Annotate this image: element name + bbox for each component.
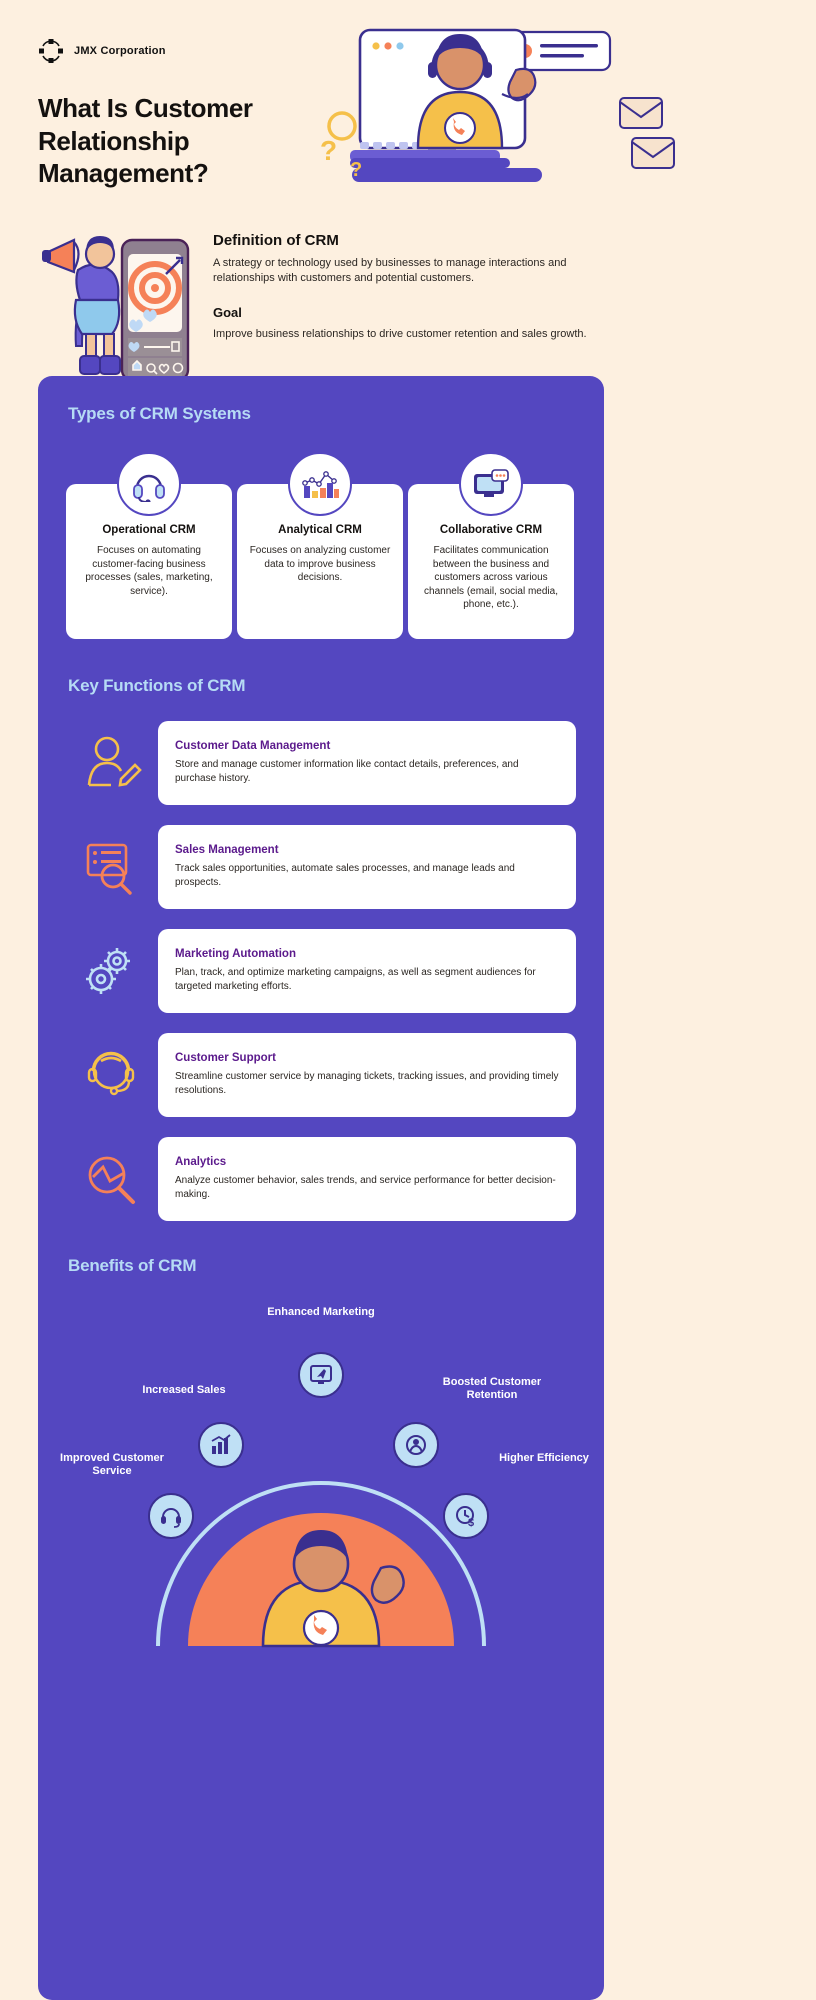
key-functions-list: Customer Data Management Store and manag…: [68, 716, 576, 1236]
analytics-magnifier-icon: [68, 1144, 158, 1214]
svg-text:?: ?: [350, 159, 362, 181]
function-title: Customer Data Management: [175, 740, 559, 752]
benefit-label: Boosted Customer Retention: [438, 1376, 546, 1403]
document-search-icon: [68, 832, 158, 902]
retention-users-icon[interactable]: [393, 1422, 439, 1468]
function-title: Analytics: [175, 1156, 559, 1168]
function-title: Customer Support: [175, 1052, 559, 1064]
function-body: Streamline customer service by managing …: [175, 1070, 559, 1098]
benefit-label: Improved Customer Service: [58, 1452, 166, 1479]
infographic-page: JMX Corporation What Is Customer Relatio…: [0, 0, 816, 2000]
function-body: Track sales opportunities, automate sale…: [175, 862, 559, 890]
crm-type-card[interactable]: Collaborative CRM Facilitates communicat…: [408, 484, 574, 639]
svg-text:$: $: [468, 1517, 474, 1528]
function-body: Store and manage customer information li…: [175, 758, 559, 786]
definition-illustration: [38, 218, 198, 383]
function-card: Marketing Automation Plan, track, and op…: [158, 929, 576, 1013]
page-title: What Is Customer Relationship Management…: [38, 92, 338, 190]
clock-money-icon[interactable]: $: [443, 1493, 489, 1539]
crm-type-body: Facilitates communication between the bu…: [419, 544, 563, 612]
definition-block: Definition of CRM A strategy or technolo…: [213, 232, 593, 343]
headset-support-icon: [68, 1040, 158, 1110]
dotted-circle-logo-icon: [38, 38, 64, 64]
function-card: Customer Data Management Store and manag…: [158, 721, 576, 805]
benefit-label: Increased Sales: [130, 1384, 238, 1397]
function-card: Customer Support Streamline customer ser…: [158, 1033, 576, 1117]
types-section-title: Types of CRM Systems: [68, 404, 251, 424]
benefit-label: Enhanced Marketing: [267, 1306, 375, 1319]
function-card: Analytics Analyze customer behavior, sal…: [158, 1137, 576, 1221]
benefit-label: Higher Efficiency: [490, 1452, 598, 1465]
crm-types-list: Operational CRM Focuses on automating cu…: [66, 484, 576, 639]
function-title: Sales Management: [175, 844, 559, 856]
crm-type-title: Operational CRM: [77, 524, 221, 536]
function-row[interactable]: Marketing Automation Plan, track, and op…: [68, 924, 576, 1018]
rocket-monitor-icon[interactable]: [298, 1352, 344, 1398]
benefits-diagram: Enhanced Marketing Increased Sales: [38, 1296, 604, 1996]
function-body: Analyze customer behavior, sales trends,…: [175, 1174, 559, 1202]
crm-type-card[interactable]: Analytical CRM Focuses on analyzing cust…: [237, 484, 403, 639]
definition-heading: Definition of CRM: [213, 232, 593, 249]
definition-body: A strategy or technology used by busines…: [213, 256, 593, 286]
function-row[interactable]: Sales Management Track sales opportuniti…: [68, 820, 576, 914]
goal-heading: Goal: [213, 305, 593, 320]
function-title: Marketing Automation: [175, 948, 559, 960]
monitor-chat-icon: [459, 452, 523, 516]
function-card: Sales Management Track sales opportuniti…: [158, 825, 576, 909]
headset-icon: [117, 452, 181, 516]
crm-type-title: Analytical CRM: [248, 524, 392, 536]
benefits-section-title: Benefits of CRM: [68, 1256, 196, 1276]
functions-section-title: Key Functions of CRM: [68, 676, 245, 696]
growth-chart-icon[interactable]: [198, 1422, 244, 1468]
function-row[interactable]: Analytics Analyze customer behavior, sal…: [68, 1132, 576, 1226]
brand-logo: JMX Corporation: [38, 38, 166, 64]
svg-text:?: ?: [320, 135, 337, 166]
support-agent-icon[interactable]: [148, 1493, 194, 1539]
content-panel: Types of CRM Systems Operational CRM Foc…: [38, 376, 604, 2000]
goal-body: Improve business relationships to drive …: [213, 327, 593, 342]
crm-type-card[interactable]: Operational CRM Focuses on automating cu…: [66, 484, 232, 639]
function-row[interactable]: Customer Data Management Store and manag…: [68, 716, 576, 810]
hero-illustration: ? ?: [320, 10, 816, 220]
user-edit-icon: [68, 728, 158, 798]
bar-chart-icon: [288, 452, 352, 516]
crm-type-body: Focuses on automating customer-facing bu…: [77, 544, 221, 598]
function-row[interactable]: Customer Support Streamline customer ser…: [68, 1028, 576, 1122]
crm-type-title: Collaborative CRM: [419, 524, 563, 536]
gears-icon: [68, 936, 158, 1006]
function-body: Plan, track, and optimize marketing camp…: [175, 966, 559, 994]
brand-name: JMX Corporation: [74, 45, 166, 57]
crm-type-body: Focuses on analyzing customer data to im…: [248, 544, 392, 585]
